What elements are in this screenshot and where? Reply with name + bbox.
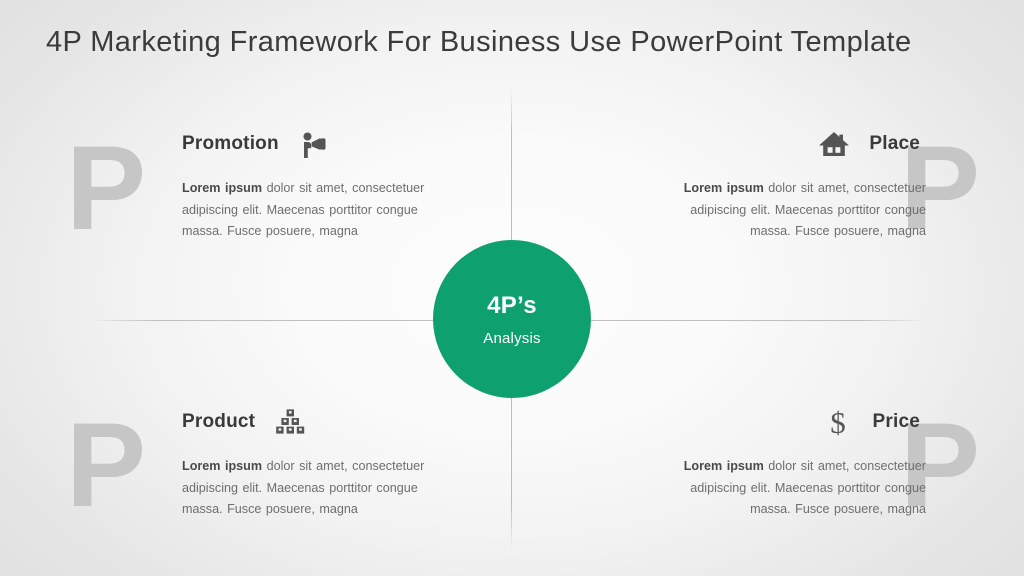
page-title: 4P Marketing Framework For Business Use … bbox=[46, 26, 911, 59]
center-analysis-circle[interactable]: 4P’s Analysis bbox=[433, 240, 591, 398]
body-lead-place: Lorem ipsum bbox=[684, 181, 764, 195]
center-secondary-label: Analysis bbox=[483, 330, 540, 347]
quadrant-header: Promotion bbox=[150, 122, 480, 166]
quadrant-promotion[interactable]: Promotion Lorem ipsum dolor sit amet, co… bbox=[150, 122, 480, 243]
svg-text:$: $ bbox=[830, 406, 846, 438]
dollar-sign-icon: $ bbox=[821, 405, 855, 439]
quadrant-title-place: Place bbox=[869, 133, 920, 155]
quadrant-body-promotion: Lorem ipsum dolor sit amet, consectetuer… bbox=[182, 178, 444, 243]
quadrant-header: Place bbox=[632, 122, 962, 166]
slide-canvas: 4P Marketing Framework For Business Use … bbox=[0, 0, 1024, 576]
quadrant-header: Product bbox=[150, 400, 480, 444]
quadrant-body-product: Lorem ipsum dolor sit amet, consectetuer… bbox=[182, 456, 444, 521]
home-icon bbox=[817, 127, 851, 161]
body-lead-price: Lorem ipsum bbox=[684, 459, 764, 473]
boxes-stack-icon bbox=[273, 405, 307, 439]
center-primary-label: 4P’s bbox=[487, 292, 537, 320]
quadrant-place[interactable]: Place Lorem ipsum dolor sit amet, consec… bbox=[632, 122, 962, 243]
quadrant-header: $ Price bbox=[632, 400, 962, 444]
body-lead-product: Lorem ipsum bbox=[182, 459, 262, 473]
quadrant-title-promotion: Promotion bbox=[182, 133, 279, 155]
quadrant-product[interactable]: Product bbox=[150, 400, 480, 521]
body-lead-promotion: Lorem ipsum bbox=[182, 181, 262, 195]
quadrant-title-product: Product bbox=[182, 411, 255, 433]
megaphone-person-icon bbox=[297, 127, 331, 161]
quadrant-price[interactable]: $ Price Lorem ipsum dolor sit amet, cons… bbox=[632, 400, 962, 521]
quadrant-body-price: Lorem ipsum dolor sit amet, consectetuer… bbox=[664, 456, 926, 521]
quadrant-title-price: Price bbox=[873, 411, 920, 433]
watermark-letter-bottom-left: P bbox=[66, 405, 146, 525]
watermark-letter-top-left: P bbox=[66, 128, 146, 248]
quadrant-body-place: Lorem ipsum dolor sit amet, consectetuer… bbox=[664, 178, 926, 243]
